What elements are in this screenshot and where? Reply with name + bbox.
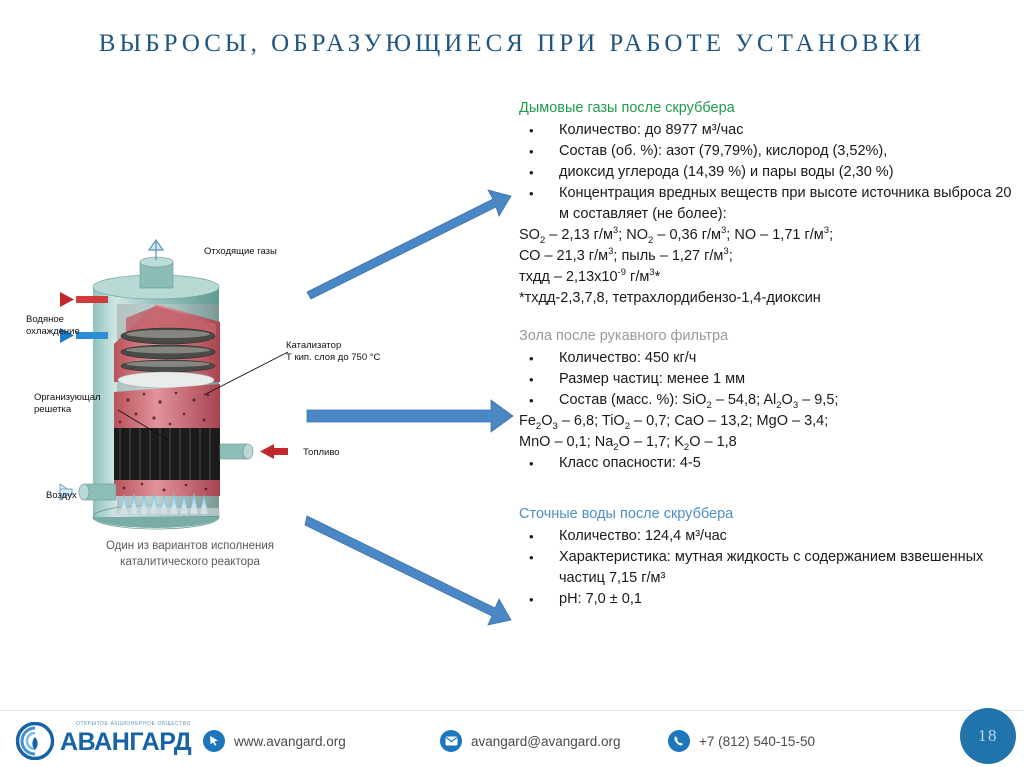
waste-water-block: Сточные воды после скруббера Количество:… <box>519 504 1019 610</box>
diagram-label-flue-gas: Отходящие газы <box>204 246 277 258</box>
envelope-icon <box>440 730 462 752</box>
diagram-label-catalyst-line1: Катализатор <box>286 340 380 352</box>
catalytic-reactor-illustration <box>8 232 338 532</box>
emissions-content-panel: Дымовые газы после скруббера Количество:… <box>519 98 1019 610</box>
arrow-to-waste-water-block <box>305 512 520 632</box>
reactor-diagram: Отходящие газы Водяное охлаждение Катали… <box>8 232 338 562</box>
list-item: Состав (масс. %): SiO2 – 54,8; Al2O3 – 9… <box>519 390 1019 411</box>
contact-phone-label: +7 (812) 540-15-50 <box>699 734 815 749</box>
diagram-label-catalyst-line2: Т кип. слоя до 750 °С <box>286 352 380 364</box>
list-item: Состав (об. %): азот (79,79%), кислород … <box>519 141 1019 162</box>
arrow-to-ash-block <box>305 398 520 438</box>
ash-bullet-list-top: Количество: 450 кг/ч Размер частиц: мене… <box>519 348 1019 411</box>
ash-formula-line-2: MnO – 0,1; Na2O – 1,7; K2O – 1,8 <box>519 432 1019 453</box>
arrow-to-flue-gas-block <box>305 185 520 300</box>
ash-heading: Зола после рукавного фильтра <box>519 326 1019 347</box>
diagram-label-water-cooling-line2: охлаждение <box>26 326 80 338</box>
list-item: Количество: до 8977 м³/час <box>519 120 1019 141</box>
list-item: Характеристика: мутная жидкость с содерж… <box>519 547 1019 589</box>
logo-wordmark: АВАНГАРД <box>60 728 191 757</box>
contact-email[interactable]: avangard@avangard.org <box>440 730 621 752</box>
contact-website[interactable]: www.avangard.org <box>203 730 346 752</box>
waste-water-heading: Сточные воды после скруббера <box>519 504 1019 525</box>
ash-block: Зола после рукавного фильтра Количество:… <box>519 326 1019 474</box>
contact-phone[interactable]: +7 (812) 540-15-50 <box>668 730 815 752</box>
page-title: ВЫБРОСЫ, ОБРАЗУЮЩИЕСЯ ПРИ РАБОТЕ УСТАНОВ… <box>0 30 1024 58</box>
ash-bullet-list-bottom: Класс опасности: 4-5 <box>519 453 1019 474</box>
page-number-badge: 18 <box>960 708 1016 764</box>
diagram-caption-line2: каталитического реактора <box>40 554 340 570</box>
flue-gas-formula-line-3: тхдд – 2,13х10-9 г/м3* <box>519 267 1019 288</box>
diagram-label-water-cooling-line1: Водяное <box>26 314 80 326</box>
diagram-label-grid-line2: решетка <box>34 404 101 416</box>
diagram-caption: Один из вариантов исполнения каталитичес… <box>40 538 340 570</box>
list-item: Концентрация вредных веществ при высоте … <box>519 183 1019 225</box>
list-item: диоксид углерода (14,39 %) и пары воды (… <box>519 162 1019 183</box>
ash-formula-line-1: Fe2O3 – 6,8; TiO2 – 0,7; CaO – 13,2; MgO… <box>519 411 1019 432</box>
cursor-icon <box>203 730 225 752</box>
avangard-swirl-icon <box>14 722 58 760</box>
flue-gas-footnote: *тхдд-2,3,7,8, тетрахлордибензо-1,4-диок… <box>519 288 1019 309</box>
diagram-label-grid: Организующал решетка <box>34 392 101 416</box>
footer: ОТКРЫТОЕ АКЦИОНЕРНОЕ ОБЩЕСТВО АВАНГАРД w… <box>0 710 1024 767</box>
diagram-label-air: Воздух <box>46 490 77 502</box>
flue-gas-formula-line-1: SO2 – 2,13 г/м3; NO2 – 0,36 г/м3; NO – 1… <box>519 225 1019 246</box>
contact-email-label: avangard@avangard.org <box>471 734 621 749</box>
list-item: Размер частиц: менее 1 мм <box>519 369 1019 390</box>
diagram-label-water-cooling: Водяное охлаждение <box>26 314 80 338</box>
diagram-label-grid-line1: Организующал <box>34 392 101 404</box>
phone-icon <box>668 730 690 752</box>
diagram-label-catalyst: Катализатор Т кип. слоя до 750 °С <box>286 340 380 364</box>
footer-divider <box>0 710 1024 711</box>
logo-subtitle: ОТКРЫТОЕ АКЦИОНЕРНОЕ ОБЩЕСТВО <box>76 721 191 727</box>
list-item: Количество: 450 кг/ч <box>519 348 1019 369</box>
flue-gas-heading: Дымовые газы после скруббера <box>519 98 1019 119</box>
list-item: pH: 7,0 ± 0,1 <box>519 589 1019 610</box>
flue-gas-formula-line-2: СО – 21,3 г/м3; пыль – 1,27 г/м3; <box>519 246 1019 267</box>
brand-logo[interactable]: ОТКРЫТОЕ АКЦИОНЕРНОЕ ОБЩЕСТВО АВАНГАРД <box>14 720 199 758</box>
diagram-caption-line1: Один из вариантов исполнения <box>40 538 340 554</box>
list-item: Количество: 124,4 м³/час <box>519 526 1019 547</box>
flue-gas-block: Дымовые газы после скруббера Количество:… <box>519 98 1019 309</box>
waste-water-bullet-list: Количество: 124,4 м³/час Характеристика:… <box>519 526 1019 610</box>
diagram-label-fuel: Топливо <box>303 447 340 459</box>
flue-gas-bullet-list: Количество: до 8977 м³/час Состав (об. %… <box>519 120 1019 225</box>
contact-website-label: www.avangard.org <box>234 734 346 749</box>
list-item: Класс опасности: 4-5 <box>519 453 1019 474</box>
